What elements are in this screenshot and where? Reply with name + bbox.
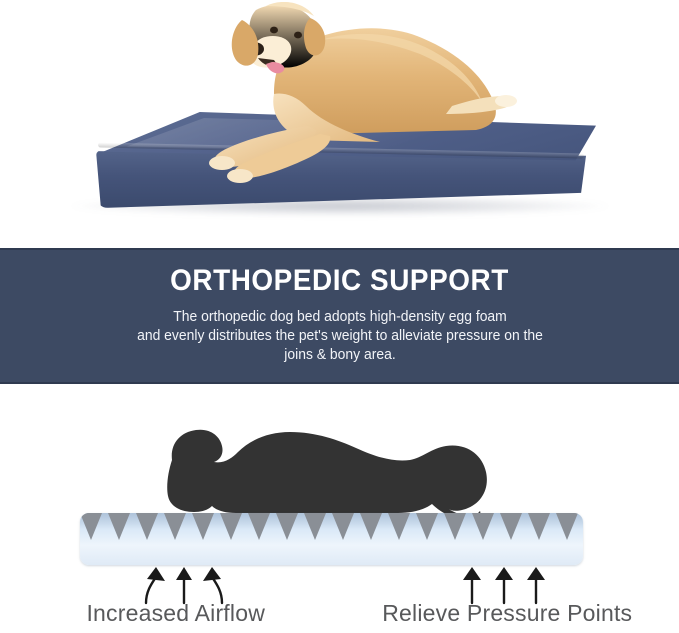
dog-silhouette <box>118 414 518 524</box>
foam-diagram-panel <box>0 384 679 633</box>
foam-teeth-row <box>80 513 583 543</box>
diagram-labels: Increased Airflow Relieve Pressure Point… <box>0 598 679 633</box>
golden-retriever-photo <box>170 2 530 192</box>
product-photo-panel <box>0 0 679 248</box>
banner-description-line-2: and evenly distributes the pet's weight … <box>71 327 609 346</box>
product-photo-stage <box>0 0 679 248</box>
banner-description-line-1: The orthopedic dog bed adopts high-densi… <box>71 308 609 327</box>
label-relieve-pressure-points: Relieve Pressure Points <box>342 598 679 633</box>
banner-description: The orthopedic dog bed adopts high-densi… <box>60 308 620 365</box>
label-increased-airflow: Increased Airflow <box>0 598 342 633</box>
banner-title: ORTHOPEDIC SUPPORT <box>24 264 655 298</box>
egg-crate-foam-block <box>80 513 583 565</box>
orthopedic-support-banner: ORTHOPEDIC SUPPORT The orthopedic dog be… <box>0 248 679 384</box>
banner-description-line-3: joins & bony area. <box>71 346 609 365</box>
